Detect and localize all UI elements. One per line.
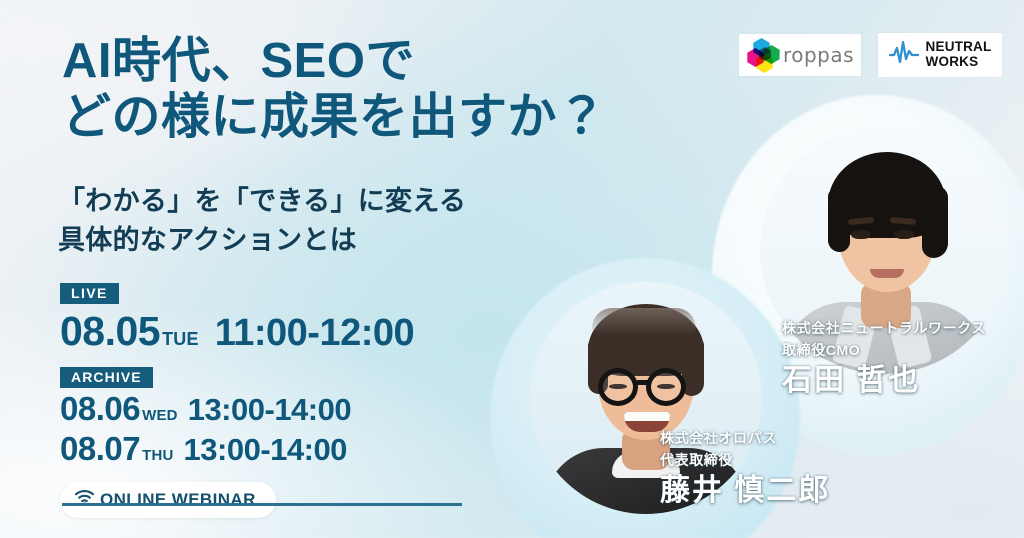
archive-block: ARCHIVE 08.06 WED 13:00-14:00 08.07 THU … <box>60 367 414 468</box>
archive-time-2: 13:00-14:00 <box>184 432 347 468</box>
speaker-name: 石田 哲也 <box>782 362 986 400</box>
live-badge: LIVE <box>60 283 119 304</box>
logo-oroppas[interactable]: roppas <box>739 34 861 76</box>
speaker-company: 株式会社ニュートラルワークス <box>782 318 986 339</box>
speaker-role: 取締役CMO <box>782 339 986 361</box>
live-date: 08.05 <box>60 308 160 355</box>
speaker-role: 代表取締役 <box>660 449 830 471</box>
logo-nw-line2: WORKS <box>926 54 979 69</box>
schedule-block: LIVE 08.05 TUE 11:00-12:00 ARCHIVE 08.06… <box>60 283 414 518</box>
live-dow: TUE <box>162 329 199 350</box>
live-time: 11:00-12:00 <box>215 312 414 355</box>
webinar-banner: roppas NEUTRAL WORKS AI時代、SEOで どの様に成果を出す… <box>0 0 1024 538</box>
speaker-name: 藤井 慎二郎 <box>660 472 830 510</box>
logo-nw-line1: NEUTRAL <box>926 39 992 54</box>
archive-date-2: 08.07 <box>60 430 140 468</box>
logo-neutral-works-wordmark: NEUTRAL WORKS <box>926 40 992 69</box>
speaker-company: 株式会社オロパス <box>660 428 830 449</box>
archive-time-1: 13:00-14:00 <box>188 392 351 428</box>
logo-row: roppas NEUTRAL WORKS <box>739 33 1002 77</box>
wifi-icon <box>74 489 95 511</box>
live-session-row: 08.05 TUE 11:00-12:00 <box>60 308 414 355</box>
archive-session-row: 08.06 WED 13:00-14:00 <box>60 390 414 428</box>
logo-neutral-works[interactable]: NEUTRAL WORKS <box>878 33 1002 77</box>
online-webinar-pill[interactable]: ONLINE WEBINAR <box>60 482 276 518</box>
page-subtitle: 「わかる」を「できる」に変える 具体的なアクションとは <box>58 182 466 260</box>
archive-dow-1: WED <box>142 407 178 424</box>
archive-badge: ARCHIVE <box>60 367 153 388</box>
logo-oroppas-wordmark: roppas <box>783 45 854 65</box>
archive-session-row: 08.07 THU 13:00-14:00 <box>60 430 414 468</box>
page-title: AI時代、SEOで どの様に成果を出すか？ <box>62 34 607 146</box>
hexagon-cluster-icon <box>746 38 784 72</box>
divider-rule <box>62 503 462 506</box>
archive-date-1: 08.06 <box>60 390 140 428</box>
pulse-wave-icon <box>889 40 919 71</box>
speaker-caption-fujii: 株式会社オロパス 代表取締役 藤井 慎二郎 <box>660 428 830 510</box>
archive-dow-2: THU <box>142 447 173 464</box>
online-webinar-label: ONLINE WEBINAR <box>100 490 256 510</box>
speaker-caption-ishida: 株式会社ニュートラルワークス 取締役CMO 石田 哲也 <box>782 318 986 400</box>
